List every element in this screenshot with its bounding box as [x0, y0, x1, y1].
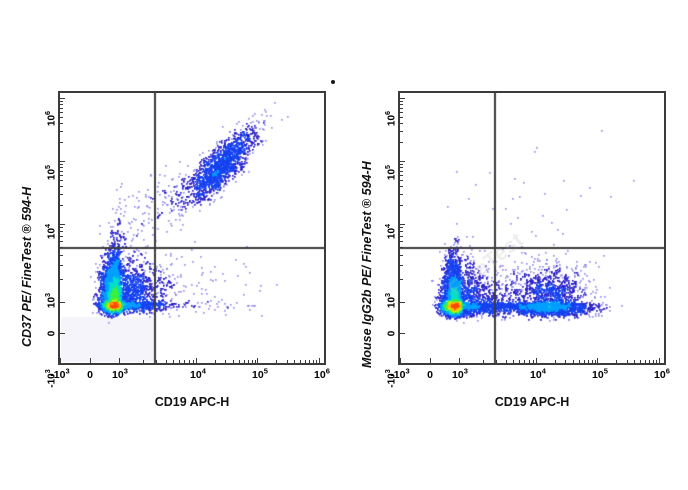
x-minor-tick-mark — [225, 360, 226, 363]
y-tick-right-3-exp: 4 — [383, 224, 392, 228]
x-minor-tick-mark — [179, 360, 180, 363]
x-minor-tick-mark — [627, 360, 628, 363]
registered-mark-icon-right: ® — [360, 199, 374, 208]
y-minor-tick-mark — [400, 186, 403, 187]
y-tick-left-4: 105 — [47, 156, 58, 190]
x-axis-title-right: CD19 APC-H — [452, 395, 612, 409]
x-tick-left-2-mantissa: 10 — [112, 369, 124, 381]
x-tick-mark — [196, 358, 197, 363]
x-tick-left-3-exp: 4 — [202, 367, 206, 376]
x-minor-tick-mark — [173, 360, 174, 363]
x-minor-tick-mark — [313, 360, 314, 363]
y-tick-right-3-mantissa: 10 — [387, 228, 398, 239]
y-tick-right-2-mantissa: 10 — [387, 297, 398, 308]
x-tick-left-5: 106 — [302, 369, 342, 381]
y-minor-tick-mark — [400, 231, 403, 232]
x-tick-right-4-mantissa: 10 — [592, 369, 604, 381]
y-minor-tick-mark — [400, 101, 403, 102]
y-minor-tick-mark — [400, 241, 403, 242]
x-tick-left-5-exp: 6 — [326, 367, 330, 376]
x-minor-tick-mark — [565, 360, 566, 363]
x-tick-left-5-mantissa: 10 — [314, 369, 326, 381]
x-minor-tick-mark — [533, 360, 534, 363]
y-axis-title-left-tail: 594-H — [20, 187, 34, 225]
corner-marker-dot — [331, 80, 335, 84]
y-minor-tick-mark — [400, 194, 403, 195]
y-minor-tick-mark — [400, 175, 403, 176]
y-axis-title-right-text: Mouse IgG2b PE/ FineTest — [360, 208, 374, 368]
y-tick-mark — [400, 224, 405, 225]
y-minor-tick-mark — [400, 131, 403, 132]
x-minor-tick-mark — [287, 360, 288, 363]
x-minor-tick-mark — [653, 360, 654, 363]
y-minor-tick-mark — [400, 164, 403, 165]
x-minor-tick-mark — [316, 360, 317, 363]
x-tick-left-1-mantissa: 0 — [87, 369, 93, 381]
y-tick-right-1: 0 — [387, 317, 398, 351]
x-tick-right-1-mantissa: 0 — [427, 369, 433, 381]
y-minor-tick-mark — [60, 255, 63, 256]
x-minor-tick-mark — [255, 360, 256, 363]
scatter-canvas-left — [60, 93, 324, 363]
y-tick-left-3-exp: 4 — [43, 224, 52, 228]
y-axis-title-left-text: CD37 PE/ FineTest — [20, 234, 34, 347]
y-minor-tick-mark — [400, 255, 403, 256]
y-tick-left-3-mantissa: 10 — [47, 228, 58, 239]
x-minor-tick-mark — [300, 360, 301, 363]
y-axis-title-left: CD37 PE/ FineTest ® 594-H — [20, 187, 34, 347]
x-minor-tick-mark — [584, 360, 585, 363]
x-minor-tick-mark — [592, 360, 593, 363]
x-minor-tick-mark — [248, 360, 249, 363]
x-tick-mark — [257, 358, 258, 363]
y-tick-mark — [400, 363, 405, 364]
y-tick-left-4-exp: 5 — [43, 165, 52, 169]
x-minor-tick-mark — [579, 360, 580, 363]
y-tick-mark — [400, 333, 405, 334]
x-minor-tick-mark — [588, 360, 589, 363]
y-minor-tick-mark — [60, 123, 63, 124]
x-tick-right-2-mantissa: 10 — [452, 369, 464, 381]
x-minor-tick-mark — [294, 360, 295, 363]
x-minor-tick-mark — [276, 360, 277, 363]
y-minor-tick-mark — [400, 112, 403, 113]
x-minor-tick-mark — [529, 360, 530, 363]
y-tick-left-5: 106 — [47, 102, 58, 136]
y-minor-tick-mark — [60, 142, 63, 143]
x-minor-tick-mark — [640, 360, 641, 363]
y-tick-left-1: 0 — [47, 317, 58, 351]
y-axis-title-right-tail: 594-H — [360, 161, 374, 199]
y-minor-tick-mark — [60, 241, 63, 242]
x-minor-tick-mark — [305, 360, 306, 363]
y-minor-tick-mark — [400, 236, 403, 237]
x-tick-right-0-mantissa: -10 — [390, 369, 405, 381]
y-tick-mark — [60, 98, 65, 99]
x-minor-tick-mark — [215, 360, 216, 363]
y-minor-tick-mark — [60, 236, 63, 237]
x-minor-tick-mark — [244, 360, 245, 363]
y-tick-left-3: 104 — [47, 215, 58, 249]
y-tick-left-4-mantissa: 10 — [47, 169, 58, 180]
x-minor-tick-mark — [496, 360, 497, 363]
x-minor-tick-mark — [649, 360, 650, 363]
x-minor-tick-mark — [166, 360, 167, 363]
y-tick-mark — [60, 333, 65, 334]
x-tick-right-2: 103 — [440, 369, 480, 381]
x-minor-tick-mark — [239, 360, 240, 363]
x-tick-right-4: 105 — [580, 369, 620, 381]
x-tick-right-2-exp: 3 — [464, 367, 468, 376]
x-tick-right-4-exp: 5 — [604, 367, 608, 376]
x-minor-tick-mark — [513, 360, 514, 363]
y-tick-right-4-exp: 5 — [383, 165, 392, 169]
y-minor-tick-mark — [60, 175, 63, 176]
y-minor-tick-mark — [60, 205, 63, 206]
y-minor-tick-mark — [60, 194, 63, 195]
x-tick-left-0-mantissa: -10 — [50, 369, 65, 381]
y-tick-right-5-mantissa: 10 — [387, 115, 398, 126]
x-minor-tick-mark — [143, 360, 144, 363]
y-minor-tick-mark — [60, 112, 63, 113]
y-minor-tick-mark — [400, 279, 403, 280]
x-minor-tick-mark — [573, 360, 574, 363]
y-tick-right-1-mantissa: 0 — [387, 331, 398, 337]
y-minor-tick-mark — [400, 142, 403, 143]
registered-mark-icon: ® — [20, 224, 34, 233]
x-minor-tick-mark — [506, 360, 507, 363]
y-minor-tick-mark — [60, 108, 63, 109]
y-tick-mark — [400, 302, 405, 303]
x-tick-mark — [430, 358, 431, 363]
x-tick-left-3: 104 — [178, 369, 218, 381]
x-minor-tick-mark — [193, 360, 194, 363]
y-tick-right-3: 104 — [387, 215, 398, 249]
y-minor-tick-mark — [400, 247, 403, 248]
y-tick-mark — [60, 161, 65, 162]
x-tick-right-3-mantissa: 10 — [530, 369, 542, 381]
x-tick-right-5: 106 — [642, 369, 682, 381]
x-minor-tick-mark — [189, 360, 190, 363]
y-minor-tick-mark — [400, 205, 403, 206]
y-minor-tick-mark — [400, 227, 403, 228]
x-tick-left-3-mantissa: 10 — [190, 369, 202, 381]
x-minor-tick-mark — [634, 360, 635, 363]
y-minor-tick-mark — [60, 247, 63, 248]
x-minor-tick-mark — [524, 360, 525, 363]
y-minor-tick-mark — [400, 117, 403, 118]
x-tick-mark — [319, 358, 320, 363]
panel-cd37-pe: CD37 PE/ FineTest ® 594-H -103 0 103 104… — [0, 0, 344, 490]
x-minor-tick-mark — [519, 360, 520, 363]
y-minor-tick-mark — [60, 167, 63, 168]
x-tick-left-4-exp: 5 — [264, 367, 268, 376]
y-minor-tick-mark — [400, 167, 403, 168]
x-tick-right-3: 104 — [518, 369, 558, 381]
y-tick-left-5-exp: 6 — [43, 111, 52, 115]
y-tick-mark — [400, 98, 405, 99]
y-minor-tick-mark — [60, 104, 63, 105]
y-minor-tick-mark — [60, 180, 63, 181]
x-minor-tick-mark — [252, 360, 253, 363]
x-minor-tick-mark — [156, 360, 157, 363]
x-tick-left-2-exp: 3 — [124, 367, 128, 376]
y-tick-right-5: 106 — [387, 102, 398, 136]
x-tick-mark — [597, 358, 598, 363]
scatter-canvas-right — [400, 93, 664, 363]
y-minor-tick-mark — [400, 171, 403, 172]
x-minor-tick-mark — [233, 360, 234, 363]
plot-area-right: FineTest — [398, 91, 666, 365]
x-tick-mark — [536, 358, 537, 363]
x-tick-mark — [119, 358, 120, 363]
y-tick-left-1-mantissa: 0 — [47, 331, 58, 337]
y-minor-tick-mark — [60, 227, 63, 228]
y-tick-right-5-exp: 6 — [383, 111, 392, 115]
y-tick-mark — [60, 363, 65, 364]
x-axis-title-left: CD19 APC-H — [112, 395, 272, 409]
y-tick-left-2-exp: 3 — [43, 293, 52, 297]
x-tick-right-5-exp: 6 — [666, 367, 670, 376]
x-tick-right-3-exp: 4 — [542, 367, 546, 376]
x-tick-mark — [659, 358, 660, 363]
x-tick-left-2: 103 — [100, 369, 140, 381]
x-tick-right-5-mantissa: 10 — [654, 369, 666, 381]
y-tick-mark — [60, 224, 65, 225]
y-minor-tick-mark — [400, 123, 403, 124]
y-tick-left-2-mantissa: 10 — [47, 297, 58, 308]
y-tick-mark — [60, 302, 65, 303]
x-tick-left-4: 105 — [240, 369, 280, 381]
y-minor-tick-mark — [60, 186, 63, 187]
x-minor-tick-mark — [555, 360, 556, 363]
y-minor-tick-mark — [60, 279, 63, 280]
y-tick-right-2-exp: 3 — [383, 293, 392, 297]
y-minor-tick-mark — [400, 180, 403, 181]
x-minor-tick-mark — [616, 360, 617, 363]
y-minor-tick-mark — [60, 117, 63, 118]
x-minor-tick-mark — [656, 360, 657, 363]
y-minor-tick-mark — [60, 231, 63, 232]
x-tick-mark — [459, 358, 460, 363]
y-tick-left-5-mantissa: 10 — [47, 115, 58, 126]
x-tick-mark — [90, 358, 91, 363]
y-axis-title-right: Mouse IgG2b PE/ FineTest ® 594-H — [360, 161, 374, 368]
y-minor-tick-mark — [60, 171, 63, 172]
y-minor-tick-mark — [60, 101, 63, 102]
panel-igg2b-isotype: Mouse IgG2b PE/ FineTest ® 594-H -103 0 … — [344, 0, 688, 490]
y-tick-left-2: 103 — [47, 284, 58, 318]
y-minor-tick-mark — [400, 104, 403, 105]
y-minor-tick-mark — [60, 131, 63, 132]
y-minor-tick-mark — [60, 164, 63, 165]
y-tick-right-4: 105 — [387, 156, 398, 190]
y-minor-tick-mark — [400, 108, 403, 109]
x-minor-tick-mark — [184, 360, 185, 363]
x-minor-tick-mark — [483, 360, 484, 363]
y-tick-right-2: 103 — [387, 284, 398, 318]
x-tick-left-4-mantissa: 10 — [252, 369, 264, 381]
plot-area-left — [58, 91, 326, 365]
y-minor-tick-mark — [400, 265, 403, 266]
x-minor-tick-mark — [645, 360, 646, 363]
x-minor-tick-mark — [309, 360, 310, 363]
y-minor-tick-mark — [60, 265, 63, 266]
y-tick-mark — [400, 161, 405, 162]
flow-cytometry-figure: CD37 PE/ FineTest ® 594-H -103 0 103 104… — [0, 0, 688, 490]
y-tick-right-4-mantissa: 10 — [387, 169, 398, 180]
x-minor-tick-mark — [595, 360, 596, 363]
